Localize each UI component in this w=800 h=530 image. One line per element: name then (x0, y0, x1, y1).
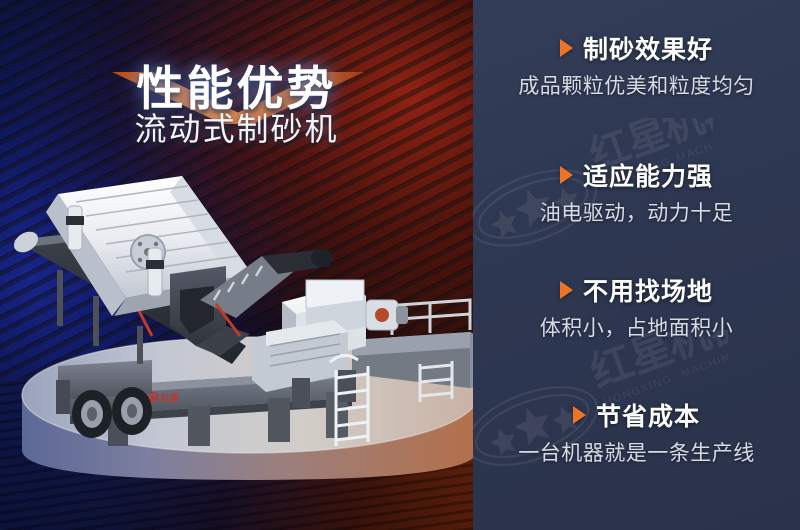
banner-stage: 红 星 HONGXING 性能优势 流动式制砂机 (0, 0, 800, 530)
feature-desc-1: 成品颗粒优美和粒度均匀 (473, 70, 800, 100)
feature-item-2[interactable]: 适应能力强 油电驱动，动力十足 (473, 160, 800, 227)
triangle-right-icon (560, 166, 573, 184)
svg-text:红星: 红星 (161, 392, 179, 403)
feature-heading-1: 制砂效果好 (473, 33, 800, 63)
features-panel: 红星 HONGXING 机器 MACHINERY 红星 HONGXING 机器 … (473, 0, 800, 530)
feature-title-1: 制砂效果好 (583, 30, 713, 66)
triangle-right-icon (573, 406, 586, 424)
feature-desc-4: 一台机器就是一条生产线 (473, 437, 800, 467)
triangle-right-icon (560, 39, 573, 57)
svg-text:机器: 机器 (657, 118, 713, 152)
triangle-right-icon (560, 281, 573, 299)
feature-heading-2: 适应能力强 (473, 160, 800, 190)
feature-desc-3: 体积小，占地面积小 (473, 312, 800, 342)
feature-item-4[interactable]: 节省成本 一台机器就是一条生产线 (473, 400, 800, 467)
svg-text:MACHINERY: MACHINERY (680, 342, 728, 380)
feature-item-1[interactable]: 制砂效果好 成品颗粒优美和粒度均匀 (473, 33, 800, 100)
feature-heading-4: 节省成本 (473, 400, 800, 430)
product-illustration: 红星 (0, 150, 473, 530)
left-visual-panel: 红 星 HONGXING 性能优势 流动式制砂机 (0, 0, 473, 530)
feature-title-2: 适应能力强 (583, 157, 713, 193)
page-subtitle: 流动式制砂机 (0, 104, 473, 150)
feature-title-3: 不用找场地 (583, 272, 713, 308)
feature-title-4: 节省成本 (596, 397, 700, 433)
feature-desc-2: 油电驱动，动力十足 (473, 197, 800, 227)
feature-item-3[interactable]: 不用找场地 体积小，占地面积小 (473, 275, 800, 342)
title-block: 性能优势 流动式制砂机 (0, 22, 473, 132)
feature-heading-3: 不用找场地 (473, 275, 800, 305)
